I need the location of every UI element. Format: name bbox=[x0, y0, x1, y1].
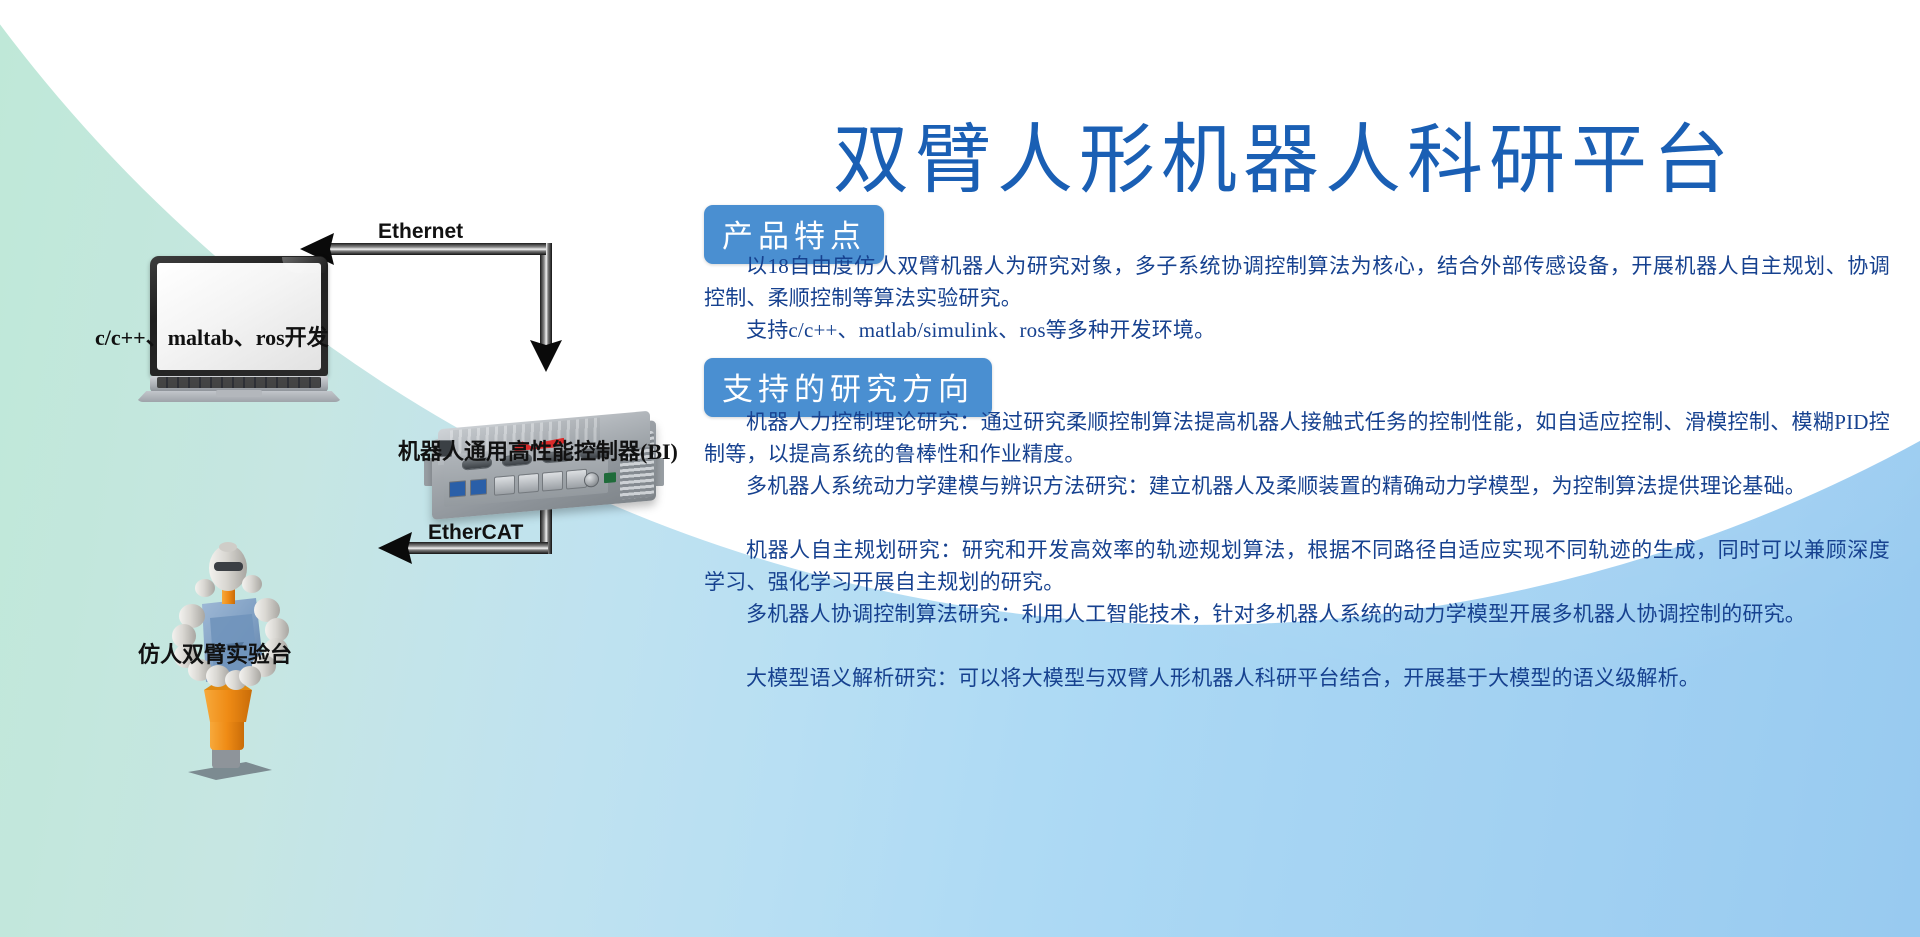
laptop-screen bbox=[157, 263, 321, 370]
laptop-lid bbox=[150, 256, 328, 376]
robot-visor bbox=[214, 562, 243, 571]
laptop-trackpad bbox=[216, 390, 262, 397]
robot-waist-lower bbox=[210, 718, 244, 750]
research-paragraph-1: 机器人力控制理论研究：通过研究柔顺控制算法提高机器人接触式任务的控制性能，如自适… bbox=[704, 406, 1890, 470]
controller-usb-port-1 bbox=[449, 480, 466, 497]
controller-status-led bbox=[604, 472, 616, 483]
robot-label: 仿人双臂实验台 bbox=[138, 637, 292, 669]
system-diagram: c/c++、maltab、ros开发 Ethernet 机器人通用高性能控制器(… bbox=[0, 0, 700, 937]
robot-shoulder-left bbox=[195, 579, 215, 597]
controller-ethernet-port-3 bbox=[542, 471, 563, 492]
robot-waist bbox=[204, 690, 252, 722]
page-title: 双臂人形机器人科研平台 bbox=[684, 98, 1884, 208]
controller-usb-port-2 bbox=[470, 478, 487, 495]
research-paragraph-4: 多机器人协调控制算法研究：利用人工智能技术，针对多机器人系统的动力学模型开展多机… bbox=[704, 598, 1890, 630]
research-paragraph-2: 多机器人系统动力学建模与辨识方法研究：建立机器人及柔顺装置的精确动力学模型，为控… bbox=[704, 470, 1890, 502]
laptop-gloss bbox=[282, 257, 326, 273]
content-panel: 双臂人形机器人科研平台 产品特点 以18自由度仿人双臂机器人为研究对象，多子系统… bbox=[684, 0, 1920, 937]
feature-paragraph-2: 支持c/c++、matlab/simulink、ros等多种开发环境。 bbox=[704, 314, 1890, 346]
laptop-keyboard bbox=[157, 377, 321, 388]
controller-illustration bbox=[424, 414, 664, 529]
robot-head-top bbox=[219, 542, 237, 552]
feature-paragraph-1: 以18自由度仿人双臂机器人为研究对象，多子系统协调控制算法为核心，结合外部传感设… bbox=[704, 250, 1890, 314]
controller-power-connector bbox=[584, 472, 599, 488]
controller-label: 机器人通用高性能控制器(BI) bbox=[398, 434, 678, 466]
ethernet-label: Ethernet bbox=[378, 220, 463, 244]
research-paragraph-3: 机器人自主规划研究：研究和开发高效率的轨迹规划算法，根据不同路径自适应实现不同轨… bbox=[704, 534, 1890, 598]
robot-shoulder-right bbox=[242, 575, 262, 593]
research-paragraph-5: 大模型语义解析研究：可以将大模型与双臂人形机器人科研平台结合，开展基于大模型的语… bbox=[704, 662, 1890, 694]
ethercat-label: EtherCAT bbox=[428, 521, 523, 545]
poster-root: c/c++、maltab、ros开发 Ethernet 机器人通用高性能控制器(… bbox=[0, 0, 1920, 937]
controller-ethernet-port-1 bbox=[494, 475, 515, 496]
laptop-label: c/c++、maltab、ros开发 bbox=[95, 320, 329, 352]
controller-ethernet-port-2 bbox=[518, 473, 539, 494]
